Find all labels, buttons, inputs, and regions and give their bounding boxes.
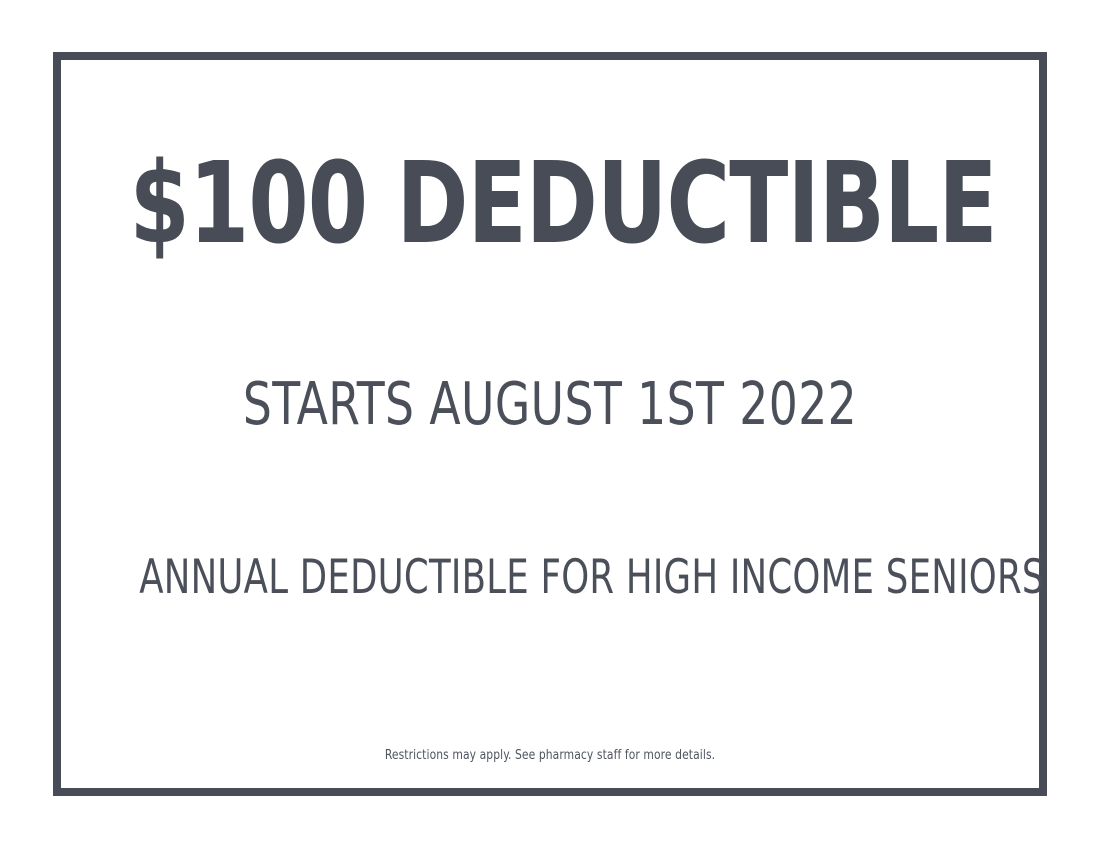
disclaimer-text: Restrictions may apply. See pharmacy sta… (100, 748, 1000, 763)
start-date-subtitle: STARTS AUGUST 1ST 2022 (129, 372, 970, 437)
description-tagline: ANNUAL DEDUCTIBLE FOR HIGH INCOME SENIOR… (139, 552, 961, 604)
page-title: $100 DEDUCTIBLE (129, 146, 970, 264)
poster-content: $100 DEDUCTIBLE STARTS AUGUST 1ST 2022 A… (61, 60, 1039, 788)
poster-frame: $100 DEDUCTIBLE STARTS AUGUST 1ST 2022 A… (53, 52, 1047, 796)
